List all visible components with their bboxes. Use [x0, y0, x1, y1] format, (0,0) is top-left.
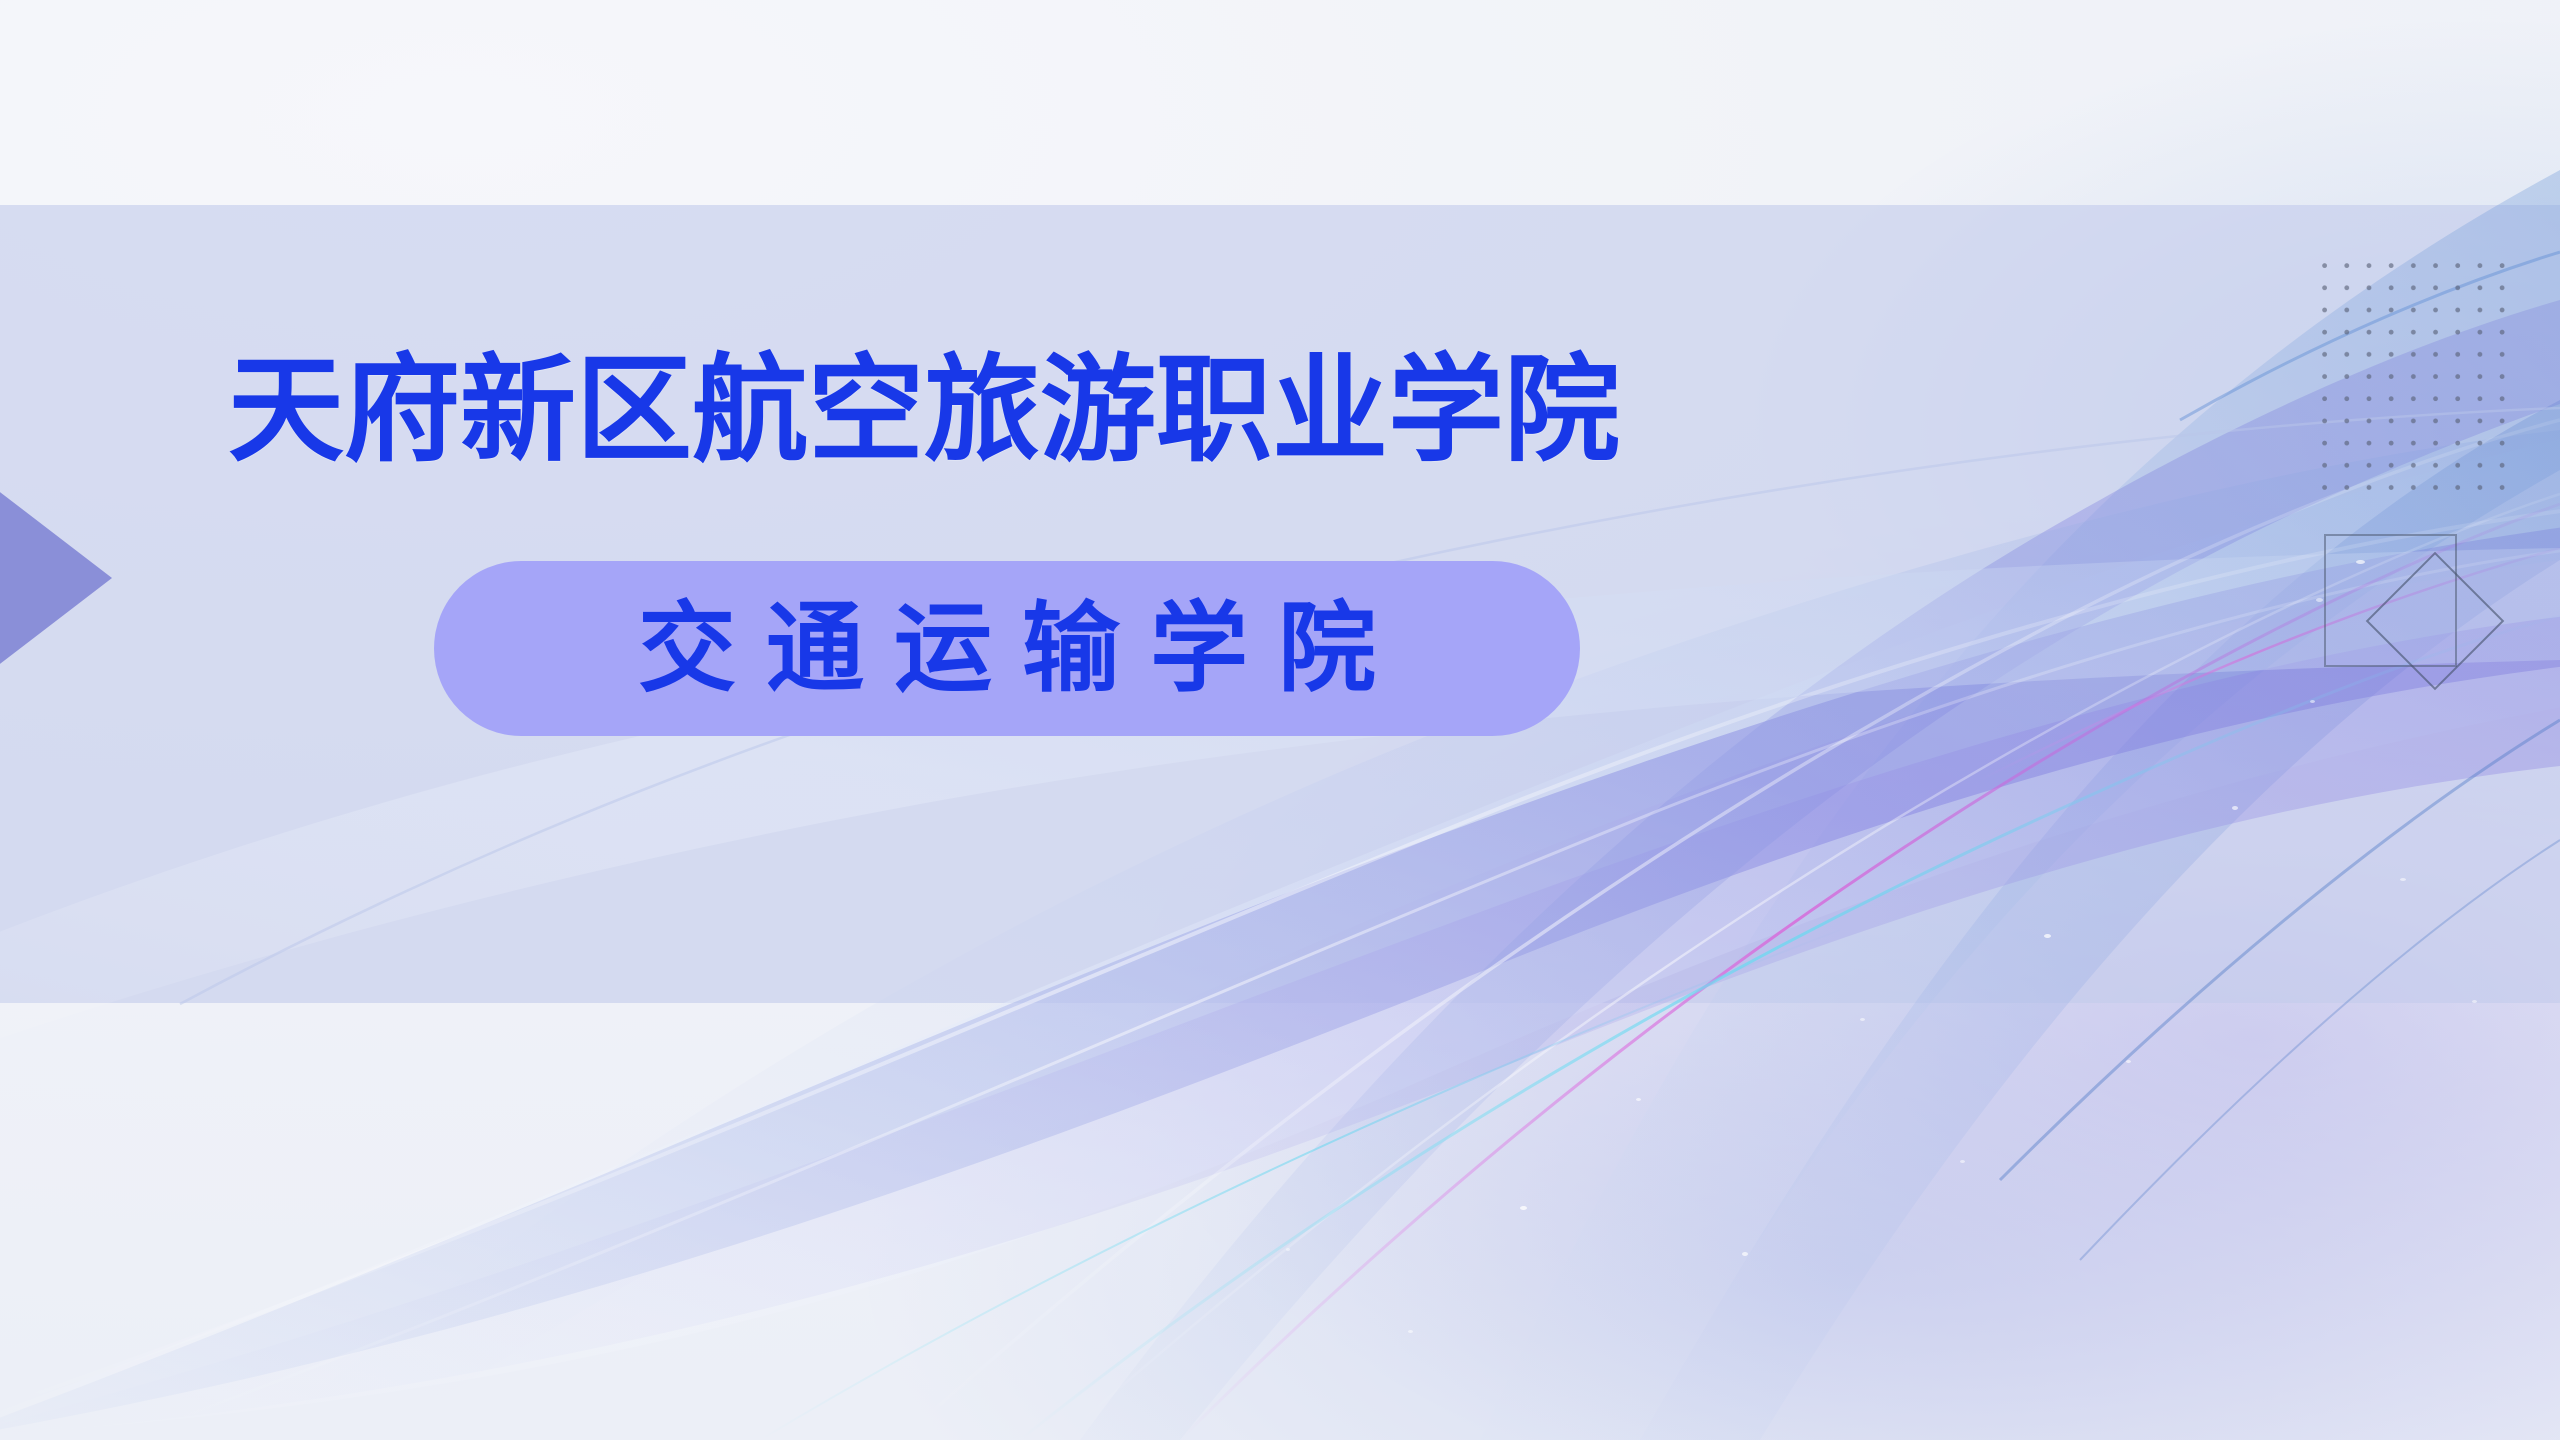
- page-title: 天府新区航空旅游职业学院: [228, 352, 1620, 468]
- department-badge: 交通运输学院: [434, 561, 1580, 736]
- title-group: 天府新区航空旅游职业学院 交通运输学院: [0, 0, 2560, 1440]
- college-banner: 天府新区航空旅游职业学院 交通运输学院: [0, 0, 2560, 1440]
- department-badge-label: 交通运输学院: [608, 600, 1406, 698]
